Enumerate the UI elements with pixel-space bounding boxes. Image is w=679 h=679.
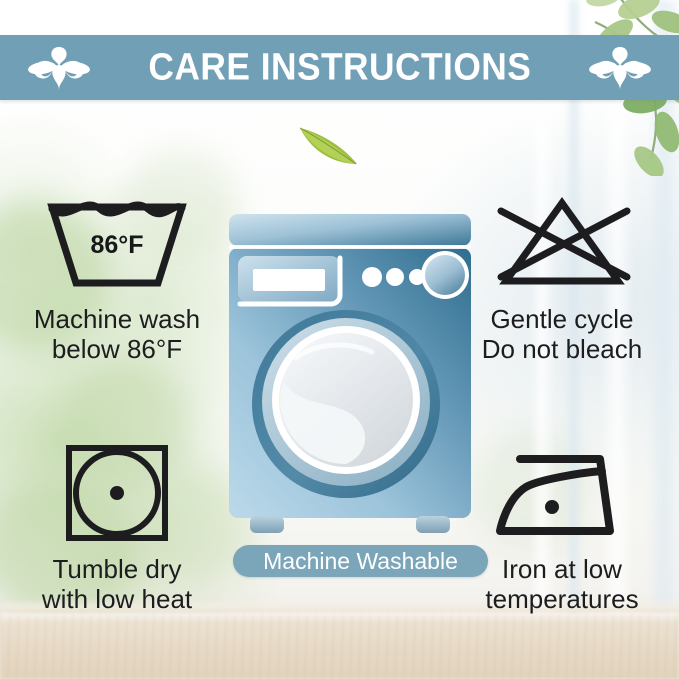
care-instructions-infographic: CARE INSTRUCTIONS 86°F Machine w — [0, 0, 679, 679]
fleur-de-lis-icon — [589, 43, 651, 93]
crossed-triangle-icon — [487, 195, 637, 291]
detergent-drawer — [238, 256, 340, 304]
care-symbol-iron: Iron at low temperatures — [447, 438, 677, 614]
machine-door — [252, 310, 440, 498]
care-symbol-tumble-dry: Tumble dry with low heat — [2, 438, 232, 614]
control-dot — [386, 268, 404, 286]
control-dot — [362, 267, 382, 287]
table-surface — [0, 613, 679, 679]
care-symbol-label: Gentle cycle Do not bleach — [447, 304, 677, 364]
symbol-art: 86°F — [2, 188, 232, 298]
symbol-art — [2, 438, 232, 548]
control-knob — [421, 251, 469, 299]
machine-top-panel — [229, 214, 471, 246]
care-symbol-machine-wash: 86°F Machine wash below 86°F — [2, 188, 232, 364]
care-symbol-label: Machine wash below 86°F — [2, 304, 232, 364]
symbol-art — [447, 438, 677, 548]
symbol-art — [447, 188, 677, 298]
page-title: CARE INSTRUCTIONS — [0, 46, 679, 89]
iron-icon — [492, 447, 632, 539]
leaf-icon — [297, 122, 361, 168]
machine-washable-badge: Machine Washable — [233, 545, 488, 577]
machine-foot — [416, 516, 450, 533]
wash-temperature-value: 86°F — [90, 231, 143, 259]
header-banner: CARE INSTRUCTIONS — [0, 35, 679, 100]
tumble-dry-icon — [62, 441, 172, 545]
wash-tub-icon: 86°F — [42, 195, 192, 291]
washing-machine-illustration — [226, 212, 474, 537]
care-symbol-label: Tumble dry with low heat — [2, 554, 232, 614]
care-symbol-do-not-bleach: Gentle cycle Do not bleach — [447, 188, 677, 364]
machine-foot — [250, 516, 284, 533]
